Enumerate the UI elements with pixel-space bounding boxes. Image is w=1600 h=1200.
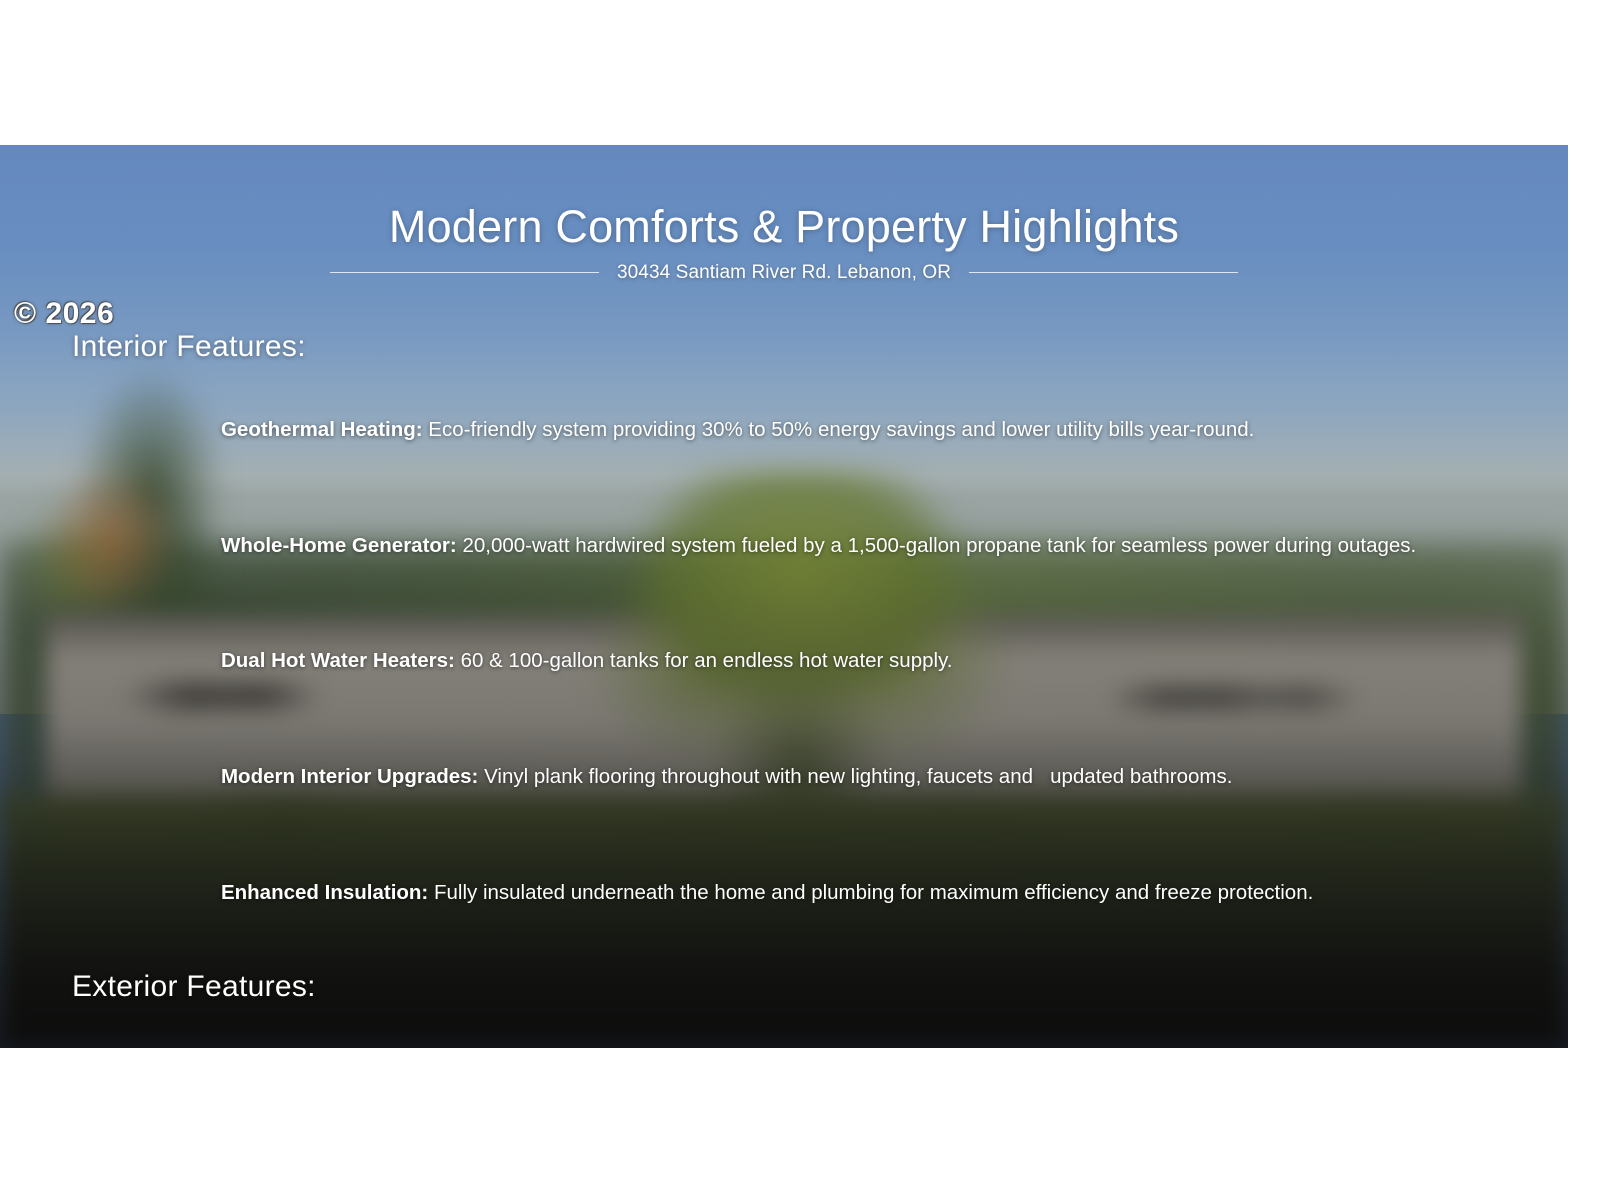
list-item: Modern Interior Upgrades: Vinyl plank fl… (72, 738, 1552, 818)
feature-label: Modern Interior Upgrades: (221, 765, 478, 788)
list-item: Whole-Home Generator: 20,000-watt hardwi… (72, 506, 1552, 586)
copyright-watermark: © 2026 (14, 297, 114, 331)
list-item: Geothermal Heating: Eco-friendly system … (72, 390, 1552, 470)
section-heading-interior: Interior Features: (72, 330, 1552, 364)
feature-description: Fully insulated underneath the home and … (428, 881, 1313, 904)
list-item: 36x36 Two-Bay Shop: Fully powered with c… (72, 1030, 1552, 1048)
feature-label: Geothermal Heating: (221, 418, 423, 441)
subtitle-row: 30434 Santiam River Rd. Lebanon, OR (0, 262, 1568, 284)
property-address: 30434 Santiam River Rd. Lebanon, OR (617, 262, 951, 284)
slide-page: © 2026 Modern Comforts & Property Highli… (0, 0, 1600, 1200)
frame-right-margin (1568, 145, 1600, 1048)
page-title: Modern Comforts & Property Highlights (0, 203, 1568, 252)
feature-description: Eco-friendly system providing 30% to 50%… (423, 418, 1255, 441)
feature-description: 20,000-watt hardwired system fueled by a… (457, 534, 1417, 557)
divider-line-right (969, 272, 1238, 273)
feature-label: Enhanced Insulation: (221, 881, 428, 904)
list-item: Dual Hot Water Heaters: 60 & 100-gallon … (72, 622, 1552, 702)
section-heading-exterior: Exterior Features: (72, 970, 1552, 1004)
feature-description: Vinyl plank flooring throughout with new… (478, 765, 1232, 788)
interior-feature-list: Geothermal Heating: Eco-friendly system … (72, 390, 1552, 934)
exterior-feature-list: 36x36 Two-Bay Shop: Fully powered with c… (72, 1030, 1552, 1048)
slide-header: Modern Comforts & Property Highlights 30… (0, 203, 1568, 284)
feature-description: 60 & 100-gallon tanks for an endless hot… (455, 649, 953, 672)
property-photo-slide: © 2026 Modern Comforts & Property Highli… (0, 145, 1568, 1048)
feature-label: Dual Hot Water Heaters: (221, 649, 455, 672)
features-content: Interior Features: Geothermal Heating: E… (0, 330, 1568, 1048)
divider-line-left (330, 272, 599, 273)
list-item: Enhanced Insulation: Fully insulated und… (72, 854, 1552, 934)
feature-label: Whole-Home Generator: (221, 534, 457, 557)
